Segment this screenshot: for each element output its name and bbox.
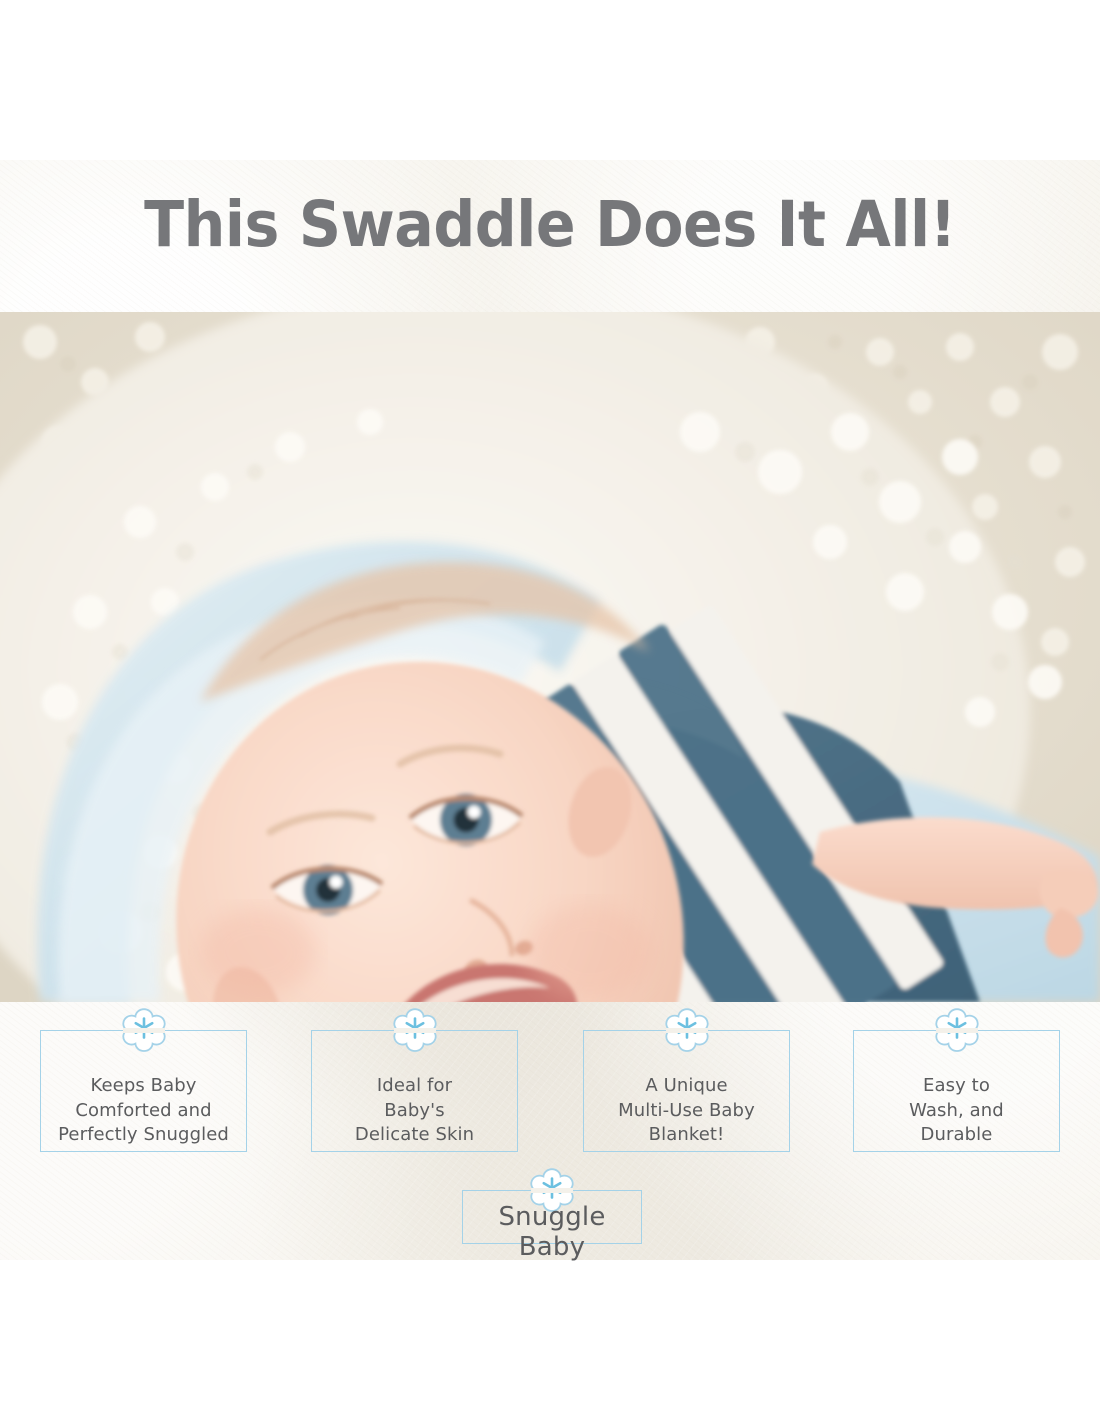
hero-photo: [0, 312, 1100, 1002]
flower-asterisk-icon: [388, 1006, 442, 1058]
feature-label: Keeps Baby Comforted and Perfectly Snugg…: [41, 1074, 246, 1148]
feature-box-ideal-for-delicate-skin[interactable]: Ideal for Baby's Delicate Skin: [311, 1030, 518, 1152]
feature-label: Easy to Wash, and Durable: [854, 1074, 1059, 1148]
feature-box-easy-to-wash[interactable]: Easy to Wash, and Durable: [853, 1030, 1060, 1152]
flower-asterisk-icon: [117, 1006, 171, 1058]
feature-label: A Unique Multi-Use Baby Blanket!: [584, 1074, 789, 1148]
brand-badge[interactable]: Snuggle Baby: [462, 1190, 642, 1244]
feature-label: Ideal for Baby's Delicate Skin: [312, 1074, 517, 1148]
feature-box-keeps-baby-comforted[interactable]: Keeps Baby Comforted and Perfectly Snugg…: [40, 1030, 247, 1152]
feature-box-row: Keeps Baby Comforted and Perfectly Snugg…: [0, 1020, 1100, 1165]
flower-asterisk-icon: [660, 1006, 714, 1058]
flower-asterisk-icon: [930, 1006, 984, 1058]
feature-box-multi-use-blanket[interactable]: A Unique Multi-Use Baby Blanket!: [583, 1030, 790, 1152]
page-title: This Swaddle Does It All!: [39, 193, 1062, 256]
brand-name: Snuggle Baby: [463, 1202, 641, 1262]
promo-page: This Swaddle Does It All!: [0, 0, 1100, 1422]
